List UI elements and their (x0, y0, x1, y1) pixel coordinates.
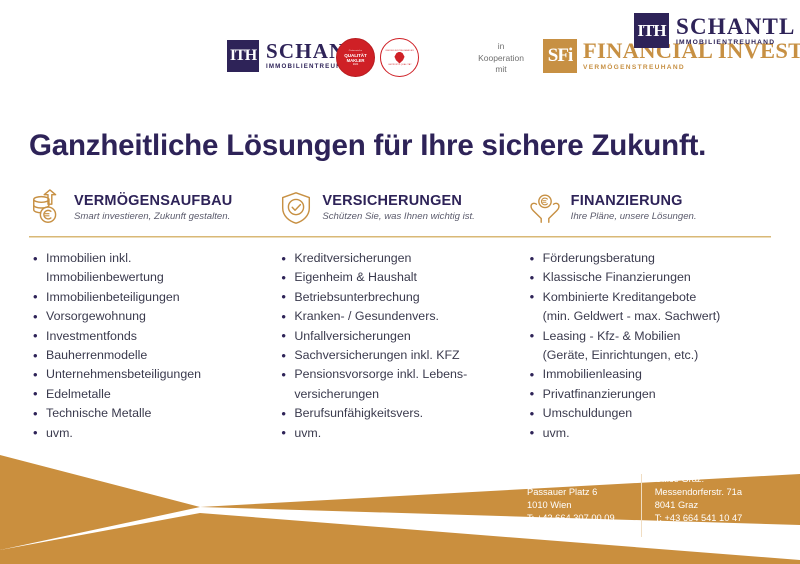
section-title: VERSICHERUNGEN (322, 193, 475, 209)
list-item: versicherungen (277, 385, 522, 404)
list-item: Umschuldungen (526, 404, 771, 423)
office-name: Office Graz: (655, 473, 751, 486)
seal-arc-bottom-text: GEPRÜFTE QUALITÄT (388, 64, 412, 66)
list-item: Unfallversicherungen (277, 327, 522, 346)
list-item: Berufsunfähigkeitsvers. (277, 404, 522, 423)
list-item: uvm. (29, 424, 274, 443)
seal-top-text: Österreichs (349, 50, 362, 52)
seal-line-year: 2024 (353, 63, 358, 66)
section-header-vermoegensaufbau: VERMÖGENSAUFBAU Smart investieren, Zukun… (29, 186, 274, 230)
coop-line-3: mit (466, 64, 536, 76)
list-item: Sachversicherungen inkl. KFZ (277, 346, 522, 365)
office-phone[interactable]: T: +43 664 307 00 09 (527, 512, 627, 525)
hands-holding-euro-icon (526, 189, 564, 227)
list-item: Förderungsberatung (526, 249, 771, 268)
list-item: Bauherrenmodelle (29, 346, 274, 365)
coop-line-2: Kooperation (466, 53, 536, 65)
qualitaets-makler-seal: Österreichs QUALITÄT MAKLER 2024 (336, 38, 375, 77)
coop-line-1: in (466, 41, 536, 53)
bullet-list: FörderungsberatungKlassische Finanzierun… (526, 249, 771, 443)
cooperation-note: in Kooperation mit (466, 41, 536, 76)
brochure-page: ITH SCHANTL IMMOBILIENTREUHAND Österreic… (0, 0, 800, 564)
list-item: Kreditversicherungen (277, 249, 522, 268)
header: ITH SCHANTL IMMOBILIENTREUHAND Österreic… (0, 0, 800, 105)
list-finanzierung: FörderungsberatungKlassische Finanzierun… (526, 249, 771, 443)
list-item: Investmentfonds (29, 327, 274, 346)
footer-contacts: Office Wien: Passauer Platz 6 1010 Wien … (527, 473, 750, 538)
section-header-versicherungen: VERSICHERUNGEN Schützen Sie, was Ihnen w… (277, 186, 522, 230)
office-wien-block: Office Wien: Passauer Platz 6 1010 Wien … (527, 473, 627, 538)
list-item: Immobilienleasing (526, 365, 771, 384)
section-header-finanzierung: FINANZIERUNG Ihre Pläne, unsere Lösungen… (526, 186, 771, 230)
list-item: (Geräte, Einrichtungen, etc.) (526, 346, 771, 365)
section-title: FINANZIERUNG (571, 193, 697, 209)
footer-divider (641, 474, 642, 537)
ith-monogram-primary: ITH (227, 40, 259, 72)
ith-monogram-corner: ITH (634, 13, 669, 48)
office-graz-block: Office Graz: Messendorferstr. 71a 8041 G… (655, 473, 751, 538)
office-city: 8041 Graz (655, 499, 751, 512)
list-item: Edelmetalle (29, 385, 274, 404)
logo-schantl-ith-corner: ITH SCHANTL IMMOBILIENTREUHAND (634, 13, 796, 48)
list-item: (min. Geldwert - max. Sachwert) (526, 307, 771, 326)
list-item: uvm. (526, 424, 771, 443)
bullet-list: KreditversicherungenEigenheim & Haushalt… (277, 249, 522, 443)
page-headline: Ganzheitliche Lösungen für Ihre sichere … (29, 129, 706, 163)
office-city: 1010 Wien (527, 499, 627, 512)
list-item: Leasing - Kfz- & Mobilien (526, 327, 771, 346)
list-item: Klassische Finanzierungen (526, 268, 771, 287)
list-item: Vorsorgewohnung (29, 307, 274, 326)
service-lists: Immobilien inkl.ImmobilienbewertungImmob… (29, 249, 771, 443)
logo-subtitle-corner: IMMOBILIENTREUHAND (676, 40, 796, 47)
logo-name-corner: SCHANTL (676, 15, 796, 38)
coins-growth-euro-icon (29, 189, 67, 227)
section-title: VERMÖGENSAUFBAU (74, 193, 232, 209)
seal-arc-top-text: IMMOBILIENTREUHÄNDER (385, 50, 413, 52)
list-item: uvm. (277, 424, 522, 443)
list-item: Immobilienbewertung (29, 268, 274, 287)
list-item: Immobilienbeteiligungen (29, 288, 274, 307)
section-headers: VERMÖGENSAUFBAU Smart investieren, Zukun… (29, 186, 771, 230)
list-item: Betriebsunterbrechung (277, 288, 522, 307)
office-phone[interactable]: T: +43 664 541 10 47 (655, 512, 751, 525)
list-item: Privatfinanzierungen (526, 385, 771, 404)
list-vermoegensaufbau: Immobilien inkl.ImmobilienbewertungImmob… (29, 249, 274, 443)
list-item: Eigenheim & Haushalt (277, 268, 522, 287)
office-street: Messendorferstr. 71a (655, 486, 751, 499)
sfi-logo-subtitle: VERMÖGENSTREUHAND (583, 65, 800, 72)
list-item: Pensionsvorsorge inkl. Lebens- (277, 365, 522, 384)
sfi-monogram: SFi (543, 39, 577, 73)
office-email[interactable]: E: office@schantl-ith.at (655, 525, 751, 538)
shield-check-icon (277, 189, 315, 227)
list-item: Unternehmensbeteiligungen (29, 365, 274, 384)
section-tagline: Schützen Sie, was Ihnen wichtig ist. (322, 210, 475, 224)
office-street: Passauer Platz 6 (527, 486, 627, 499)
list-versicherungen: KreditversicherungenEigenheim & Haushalt… (277, 249, 522, 443)
bullet-list: Immobilien inkl.ImmobilienbewertungImmob… (29, 249, 274, 443)
office-email[interactable]: E: office@sfi-invest.com (527, 525, 627, 538)
section-divider-rule (29, 236, 771, 238)
section-tagline: Ihre Pläne, unsere Lösungen. (571, 210, 697, 224)
wko-immobilientreuhaender-seal: IMMOBILIENTREUHÄNDER GEPRÜFTE QUALITÄT (380, 38, 419, 77)
list-item: Technische Metalle (29, 404, 274, 423)
eagle-emblem-icon (394, 52, 405, 64)
list-item: Kombinierte Kreditangebote (526, 288, 771, 307)
list-item: Immobilien inkl. (29, 249, 274, 268)
list-item: Kranken- / Gesundenvers. (277, 307, 522, 326)
office-name: Office Wien: (527, 473, 627, 486)
section-tagline: Smart investieren, Zukunft gestalten. (74, 210, 232, 224)
